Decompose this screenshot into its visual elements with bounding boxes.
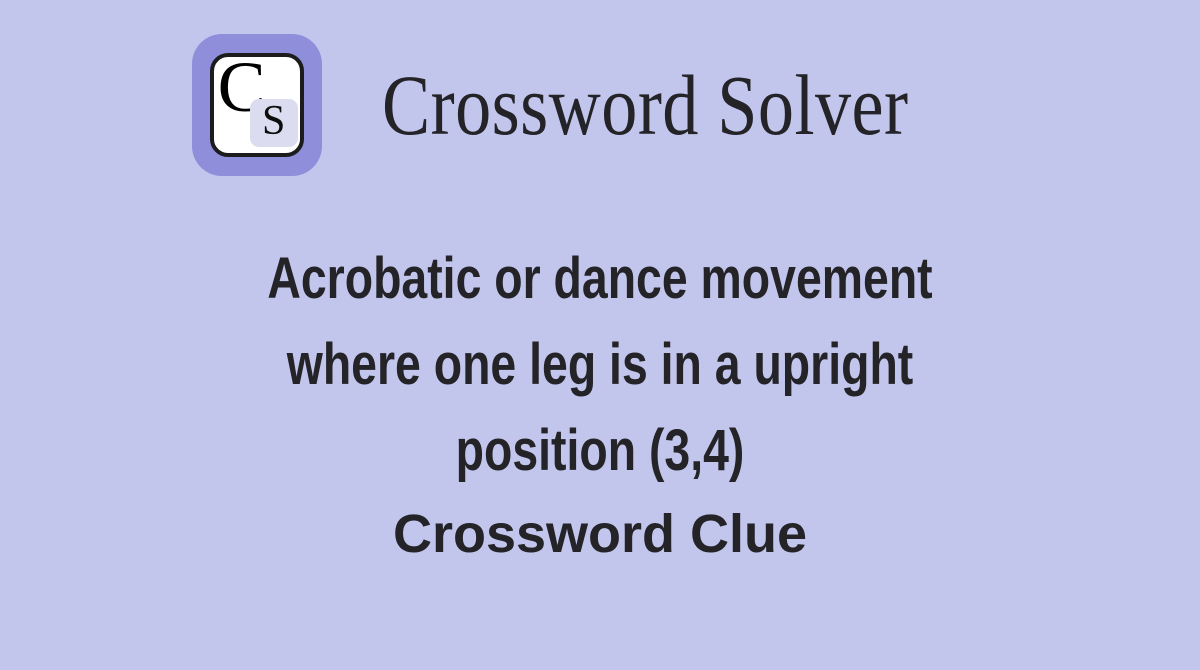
header-inner: C S Crossword Solver	[192, 34, 1009, 176]
logo-letter-s-icon: S	[262, 100, 285, 142]
logo-letter-s-tile: S	[250, 99, 298, 147]
clue-text: Acrobatic or dance movement where one le…	[216, 236, 984, 494]
site-logo[interactable]: C S	[192, 34, 322, 176]
site-header: C S Crossword Solver	[0, 34, 1200, 176]
clue-block: Acrobatic or dance movement where one le…	[0, 236, 1200, 570]
site-title[interactable]: Crossword Solver	[382, 62, 908, 148]
logo-tile: C S	[210, 53, 304, 157]
crossword-clue-page: C S Crossword Solver Acrobatic or dance …	[0, 0, 1200, 670]
clue-suffix-label: Crossword Clue	[0, 494, 1200, 570]
